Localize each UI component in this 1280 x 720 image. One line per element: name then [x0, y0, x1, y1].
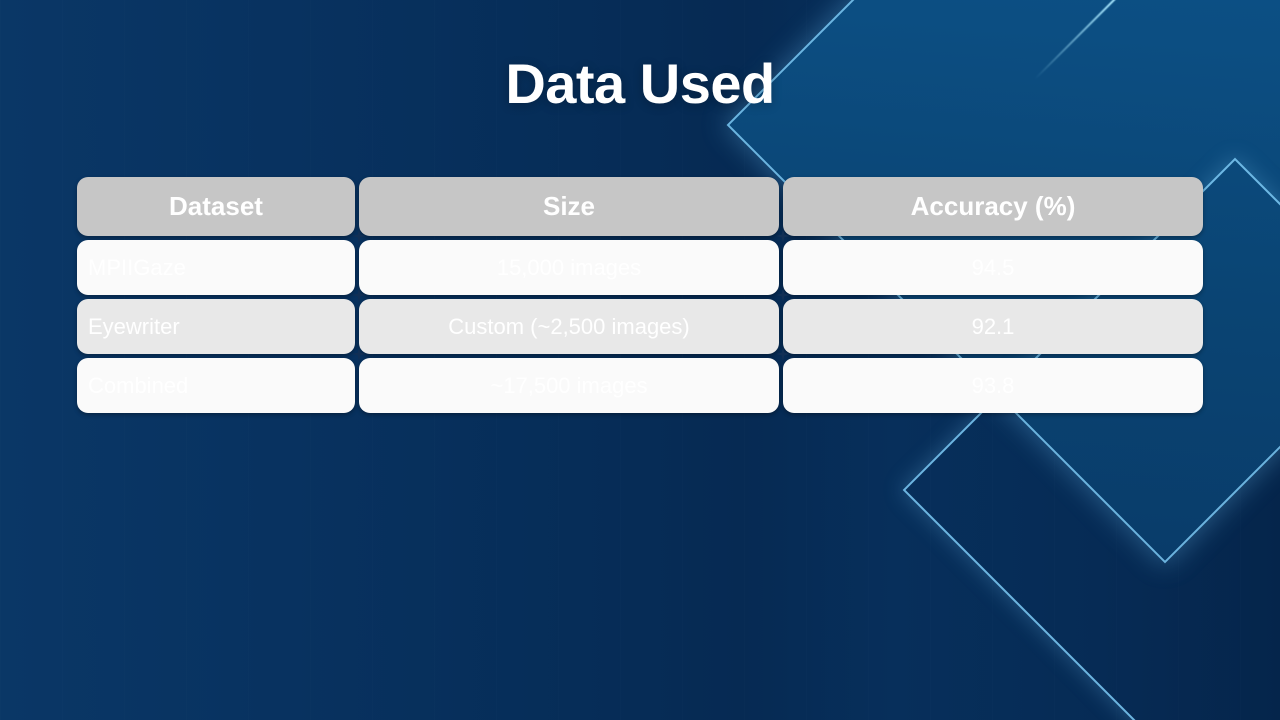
- table-row[interactable]: Eyewriter Custom (~2,500 images) 92.1: [77, 299, 1203, 354]
- cell-size: ~17,500 images: [359, 358, 779, 413]
- column-header-size[interactable]: Size: [359, 177, 779, 236]
- data-table: Dataset Size Accuracy (%) MPIIGaze 15,00…: [77, 177, 1203, 417]
- cell-accuracy: 93.8: [783, 358, 1203, 413]
- column-header-accuracy[interactable]: Accuracy (%): [783, 177, 1203, 236]
- cell-accuracy: 92.1: [783, 299, 1203, 354]
- cell-size: Custom (~2,500 images): [359, 299, 779, 354]
- cell-dataset: MPIIGaze: [77, 240, 355, 295]
- cell-dataset: Eyewriter: [77, 299, 355, 354]
- table-row[interactable]: Combined ~17,500 images 93.8: [77, 358, 1203, 413]
- table-header-row: Dataset Size Accuracy (%): [77, 177, 1203, 236]
- cell-accuracy: 94.5: [783, 240, 1203, 295]
- column-header-dataset[interactable]: Dataset: [77, 177, 355, 236]
- table-row[interactable]: MPIIGaze 15,000 images 94.5: [77, 240, 1203, 295]
- cell-size: 15,000 images: [359, 240, 779, 295]
- slide-title: Data Used: [0, 56, 1280, 112]
- cell-dataset: Combined: [77, 358, 355, 413]
